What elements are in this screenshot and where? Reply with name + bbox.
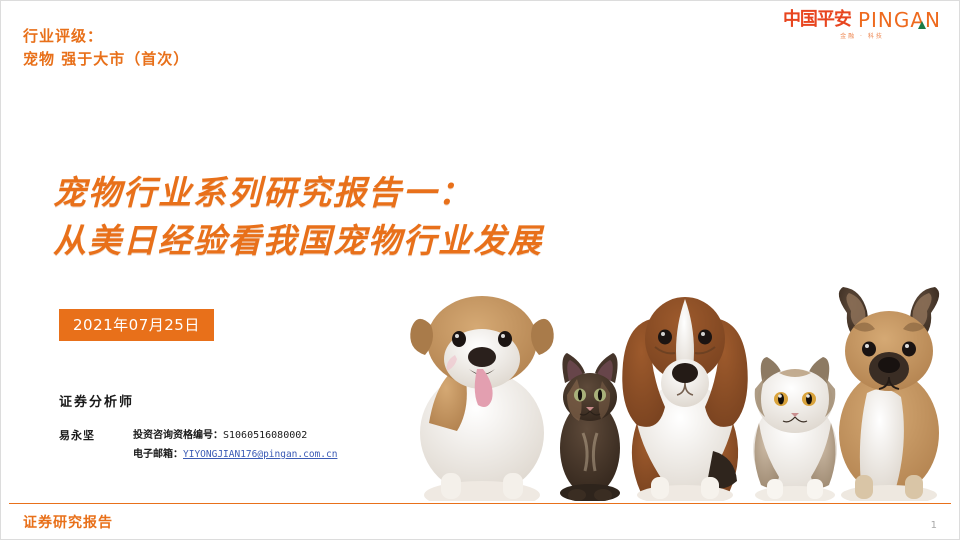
analyst-email-label: 电子邮箱： — [133, 449, 183, 460]
analyst-name: 易永坚 — [59, 426, 133, 443]
analyst-email: 电子邮箱：YIYONGJIAN176@pingan.com.cn — [133, 445, 337, 464]
industry-rating-label: 行业评级： — [23, 25, 189, 48]
logo-english-text: PINGAN — [858, 8, 941, 32]
logo-wordmark: 中国平安 PINGAN — [783, 10, 941, 30]
analyst-section-heading: 证券分析师 — [59, 391, 337, 410]
page-number: 1 — [931, 520, 937, 531]
footer-label: 证券研究报告 — [23, 512, 113, 532]
analyst-qualification: 投资咨询资格编号：S1060516080002 — [133, 426, 337, 445]
analyst-qualification-label: 投资咨询资格编号： — [133, 430, 223, 441]
analyst-row: 易永坚 投资咨询资格编号：S1060516080002 电子邮箱：YIYONGJ… — [59, 426, 337, 464]
logo-tagline: 金融 · 科技 — [783, 34, 941, 40]
publish-date-badge: 2021年07月25日 — [59, 309, 214, 341]
industry-rating: 行业评级： 宠物 强于大市（首次） — [23, 25, 189, 72]
analyst-details: 投资咨询资格编号：S1060516080002 电子邮箱：YIYONGJIAN1… — [133, 426, 337, 464]
pets-illustration — [397, 273, 953, 501]
pets-group-photo — [397, 273, 953, 501]
pet-tortoiseshell-kitten — [560, 353, 620, 501]
industry-rating-value: 宠物 强于大市（首次） — [23, 48, 189, 71]
logo-english-name: PINGAN — [858, 10, 941, 30]
analyst-email-link[interactable]: YIYONGJIAN176@pingan.com.cn — [183, 449, 337, 460]
page-title-line-1: 宠物行业系列研究报告一： — [53, 169, 543, 217]
footer-divider — [9, 503, 951, 504]
page-title-line-2: 从美日经验看我国宠物行业发展 — [53, 217, 543, 265]
analyst-block: 证券分析师 易永坚 投资咨询资格编号：S1060516080002 电子邮箱：Y… — [59, 391, 337, 464]
report-cover-slide: 行业评级： 宠物 强于大市（首次） 中国平安 PINGAN 金融 · 科技 宠物… — [0, 0, 960, 540]
logo-chinese-name: 中国平安 — [783, 11, 851, 29]
pingan-logo: 中国平安 PINGAN 金融 · 科技 — [783, 10, 941, 40]
pet-french-bulldog — [839, 287, 939, 501]
pet-exotic-shorthair-cat — [753, 357, 837, 501]
pet-basset-hound — [622, 297, 747, 501]
page-title: 宠物行业系列研究报告一： 从美日经验看我国宠物行业发展 — [53, 169, 543, 265]
logo-green-triangle-icon — [918, 21, 926, 29]
analyst-qualification-value: S1060516080002 — [223, 430, 307, 441]
